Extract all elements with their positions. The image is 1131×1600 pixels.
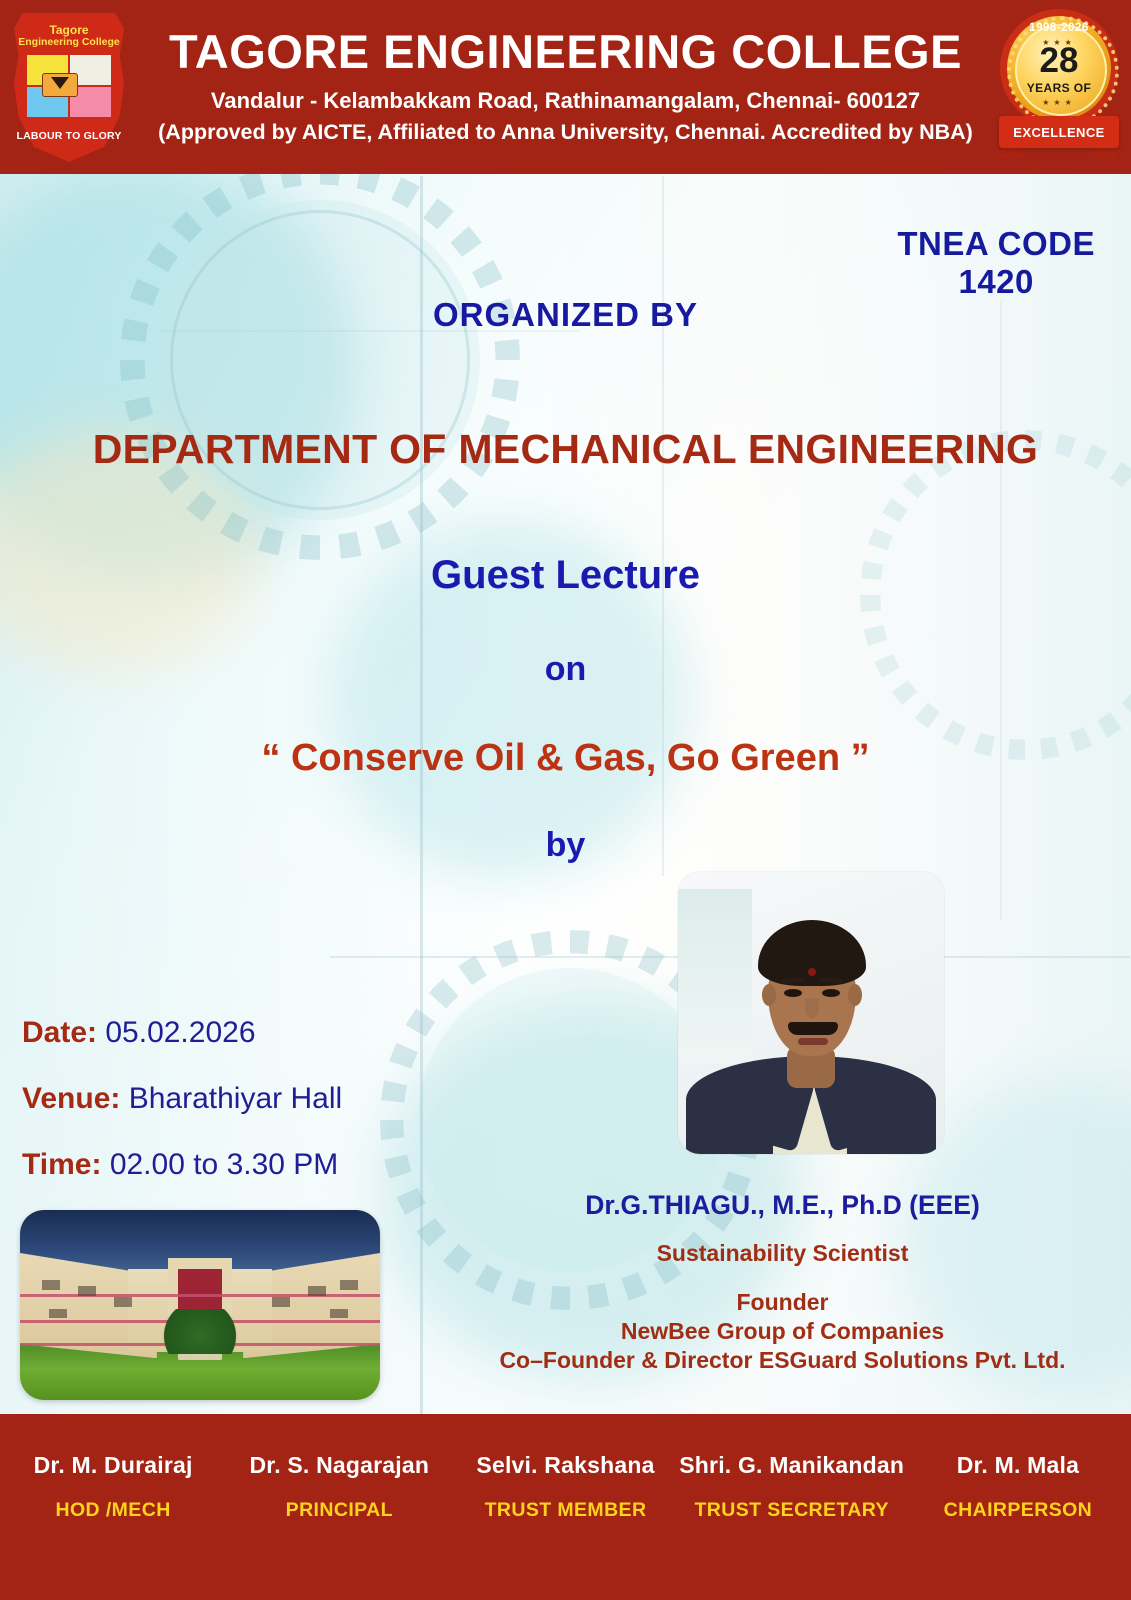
campus-window-7 [49,1309,67,1319]
organized-by-label: ORGANIZED BY [0,296,1131,334]
footer-person-designation: TRUST SECRETARY [679,1499,905,1522]
event-poster: Tagore Engineering College LABOUR TO GLO… [0,0,1131,1600]
footer-person-name: Dr. S. Nagarajan [226,1452,452,1479]
campus-window-5 [308,1286,326,1296]
campus-floor-band-1 [20,1294,380,1297]
footer-person-0: Dr. M. Durairaj HOD /MECH [0,1452,226,1522]
campus-photo [20,1210,380,1400]
speaker-ear-right [848,984,862,1006]
speaker-mouth [798,1038,828,1045]
footer-person-name: Dr. M. Mala [905,1452,1131,1479]
by-connector: by [0,826,1131,865]
speaker-photo [678,872,944,1154]
campus-window-6 [340,1280,358,1290]
speaker-forehead-mark [808,968,816,976]
date-label: Date: [22,1016,97,1049]
footer-person-2: Selvi. Rakshana TRUST MEMBER [452,1452,678,1522]
time-label: Time: [22,1148,101,1181]
department-name: DEPARTMENT OF MECHANICAL ENGINEERING [0,426,1131,473]
footer-person-name: Selvi. Rakshana [452,1452,678,1479]
on-connector: on [0,650,1131,689]
campus-window-3 [114,1297,132,1307]
footer-person-name: Shri. G. Manikandan [679,1452,905,1479]
speaker-eye-left [784,989,802,997]
date-value: 05.02.2026 [105,1016,255,1049]
event-type: Guest Lecture [0,553,1131,598]
campus-window-1 [42,1280,60,1290]
footer-person-designation: TRUST MEMBER [452,1499,678,1522]
detail-row-date: Date: 05.02.2026 [22,1000,442,1066]
speaker-affiliation-line1: Founder [440,1288,1125,1317]
footer-people-list: Dr. M. Durairaj HOD /MECH Dr. S. Nagaraj… [0,1452,1131,1522]
footer-person-3: Shri. G. Manikandan TRUST SECRETARY [679,1452,905,1522]
campus-trees [157,1309,243,1355]
speaker-ear-left [762,984,776,1006]
speaker-moustache [788,1022,838,1035]
poster-content: TNEA CODE 1420 ORGANIZED BY DEPARTMENT O… [0,0,1131,1600]
tnea-code-label: TNEA CODE [897,225,1095,263]
campus-window-2 [78,1286,96,1296]
speaker-nose [805,998,819,1018]
venue-label: Venue: [22,1082,120,1115]
speaker-affiliation: Founder NewBee Group of Companies Co–Fou… [440,1288,1125,1375]
campus-window-8 [330,1309,348,1319]
speaker-role: Sustainability Scientist [440,1240,1125,1267]
speaker-affiliation-line3: Co–Founder & Director ESGuard Solutions … [440,1346,1125,1375]
event-details: Date: 05.02.2026 Venue: Bharathiyar Hall… [22,1000,442,1198]
footer-person-designation: CHAIRPERSON [905,1499,1131,1522]
footer-banner: Dr. M. Durairaj HOD /MECH Dr. S. Nagaraj… [0,1414,1131,1600]
detail-row-venue: Venue: Bharathiyar Hall [22,1066,442,1132]
footer-person-name: Dr. M. Durairaj [0,1452,226,1479]
footer-person-4: Dr. M. Mala CHAIRPERSON [905,1452,1131,1522]
lecture-topic: “ Conserve Oil & Gas, Go Green ” [0,737,1131,780]
footer-person-1: Dr. S. Nagarajan PRINCIPAL [226,1452,452,1522]
campus-window-4 [272,1297,290,1307]
detail-row-time: Time: 02.00 to 3.30 PM [22,1132,442,1198]
tnea-code: TNEA CODE 1420 [897,225,1095,301]
speaker-eye-right [822,989,840,997]
speaker-affiliation-line2: NewBee Group of Companies [440,1317,1125,1346]
speaker-name: Dr.G.THIAGU., M.E., Ph.D (EEE) [440,1190,1125,1221]
time-value: 02.00 to 3.30 PM [110,1148,339,1181]
venue-value: Bharathiyar Hall [129,1082,342,1115]
footer-person-designation: HOD /MECH [0,1499,226,1522]
footer-person-designation: PRINCIPAL [226,1499,452,1522]
